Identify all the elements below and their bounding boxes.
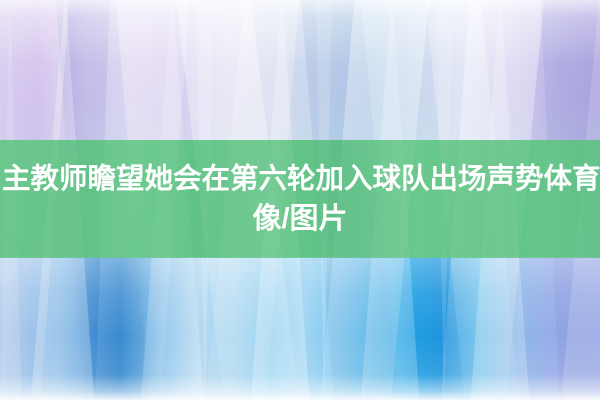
caption-block: 主教师瞻望她会在第六轮加入球队出场声势体育录 像/图片 <box>0 140 600 258</box>
caption-line-2: 像/图片 <box>252 199 347 239</box>
background-band-top <box>0 0 600 141</box>
promo-banner: 主教师瞻望她会在第六轮加入球队出场声势体育录 像/图片 <box>0 0 600 400</box>
caption-line-1: 主教师瞻望她会在第六轮加入球队出场声势体育录 <box>0 159 600 199</box>
background-band-bottom <box>0 257 600 400</box>
